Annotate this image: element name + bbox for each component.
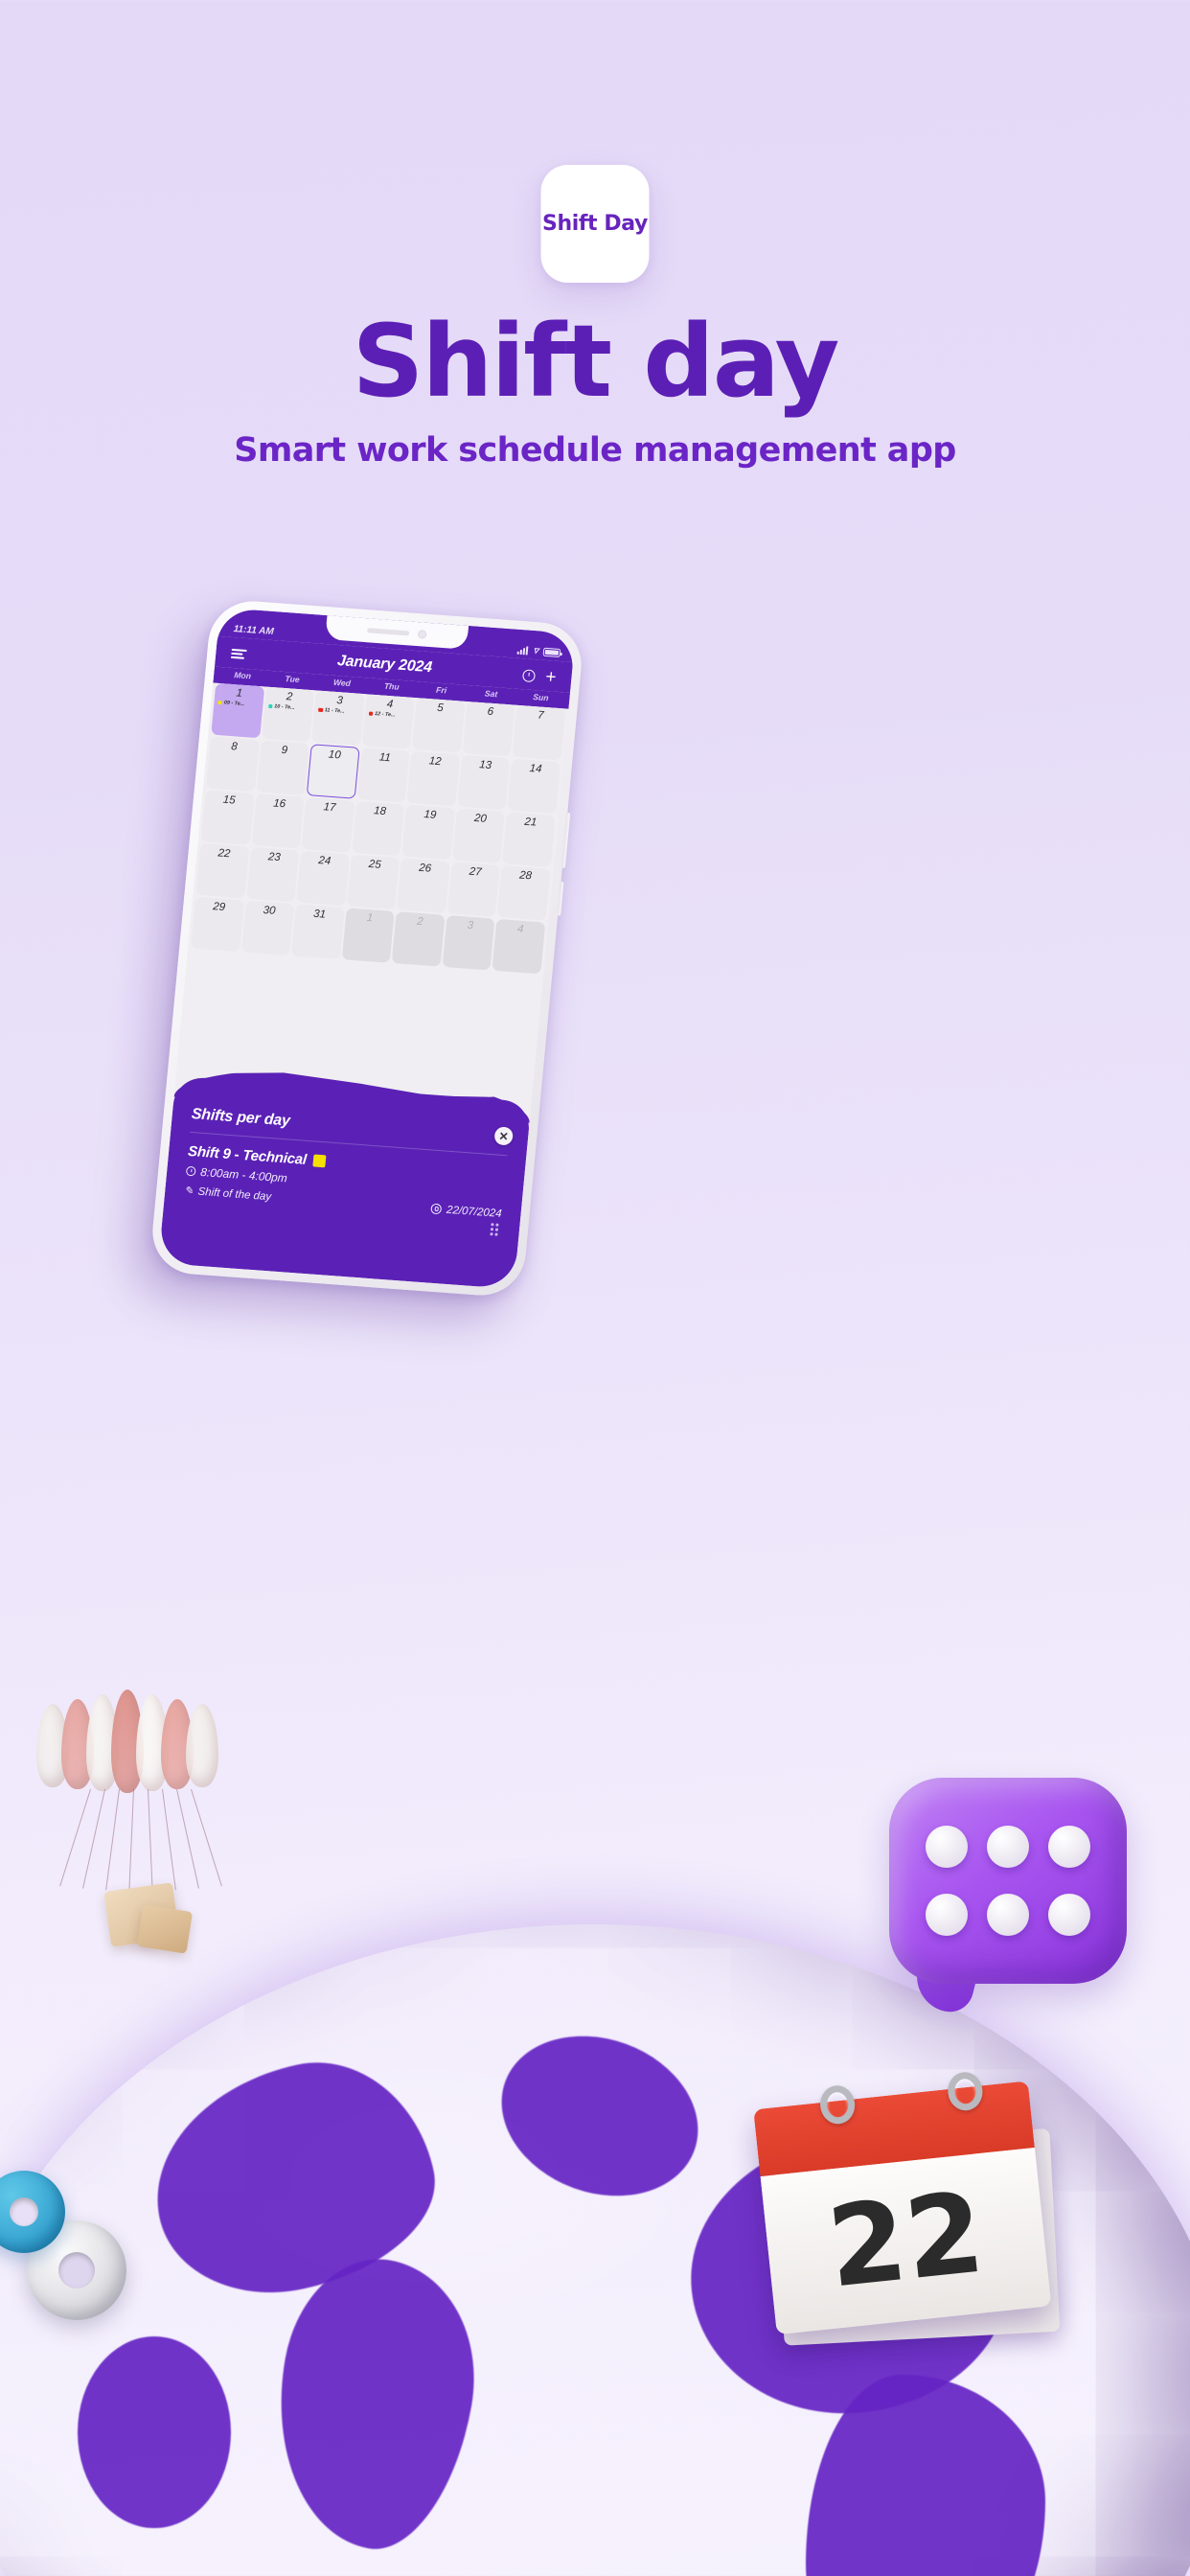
status-bar-icons: ▿ — [516, 645, 561, 658]
shift-color-swatch — [312, 1154, 326, 1167]
calendar-day-cell[interactable]: 210 - Te... — [262, 687, 315, 742]
calendar-grid: 109 - Te...210 - Te...311 - Te...412 - T… — [188, 683, 568, 975]
calendar-day-cell[interactable]: 8 — [206, 737, 260, 792]
calendar-day-number: 20 — [457, 812, 503, 827]
parachute-lines — [90, 1789, 195, 1893]
parachute-illustration — [36, 1690, 242, 1977]
app-icon: Shift Day — [541, 165, 650, 283]
calendar-day-number: 23 — [251, 850, 297, 865]
parachute-canopy — [36, 1690, 242, 1803]
weekday-label: Thu — [366, 679, 417, 693]
calendar-day-cell[interactable]: 5 — [412, 698, 466, 752]
calendar-day-cell[interactable]: 24 — [296, 851, 350, 906]
gift-box — [137, 1904, 193, 1954]
calendar-day-cell[interactable]: 25 — [347, 855, 400, 909]
drag-handle[interactable] — [491, 1223, 499, 1235]
calendar-day-cell[interactable]: 109 - Te... — [211, 683, 264, 738]
weekday-label: Wed — [317, 677, 368, 690]
shifts-bottom-sheet: ✕ Shifts per day Shift 9 - Technical 8:0… — [158, 1076, 532, 1289]
calendar-day-cell[interactable]: 15 — [201, 790, 255, 844]
calendar-day-number: 3 — [447, 918, 493, 933]
calendar-day-number: 9 — [262, 744, 308, 759]
phone-body: 11:11 AM ▿ January 2024 + MonTu — [149, 598, 584, 1298]
status-bar-time: 11:11 AM — [233, 624, 274, 637]
clock-icon[interactable] — [522, 669, 536, 682]
pencil-icon[interactable]: ✎ — [184, 1184, 194, 1198]
weekday-label: Fri — [416, 683, 467, 697]
shift-date: 22/07/2024 — [446, 1204, 503, 1219]
calendar-day-cell[interactable]: 13 — [457, 755, 511, 810]
calendar-day-cell[interactable]: 18 — [352, 801, 405, 856]
phone-mockup: 11:11 AM ▿ January 2024 + MonTu — [149, 598, 584, 1298]
shift-name: Shift 9 - Technical — [187, 1143, 307, 1168]
calendar-day-cell[interactable]: 31 — [291, 904, 345, 958]
calendar-day-number: 2 — [398, 914, 444, 930]
calendar-day-cell[interactable]: 21 — [502, 812, 556, 866]
calendar-day-number: 24 — [302, 854, 348, 869]
calendar-day-cell[interactable]: 22 — [195, 843, 249, 898]
calendar-day-cell[interactable]: 16 — [251, 793, 305, 848]
calendar-day-cell[interactable]: 4 — [492, 919, 546, 974]
calendar-day-cell[interactable]: 11 — [356, 747, 410, 802]
calendar-day-cell[interactable]: 19 — [401, 805, 455, 860]
calendar-day-cell[interactable]: 17 — [302, 797, 355, 852]
shift-note-row: ✎ Shift of the day — [184, 1184, 272, 1204]
weekday-label: Sat — [466, 687, 516, 701]
shift-date-row: 22/07/2024 — [431, 1203, 503, 1219]
weekday-label: Tue — [267, 673, 318, 686]
desk-calendar-body: 22 — [761, 2148, 1052, 2334]
calendar-day-cell[interactable]: 12 — [407, 751, 461, 806]
phone-speaker — [367, 628, 409, 635]
gears-icon — [0, 2171, 155, 2334]
calendar-day-cell[interactable]: 10 — [307, 744, 360, 798]
phone-screen: 11:11 AM ▿ January 2024 + MonTu — [158, 608, 576, 1289]
target-icon — [431, 1204, 443, 1215]
phone-camera — [418, 630, 427, 639]
globe-continent — [78, 2336, 231, 2528]
calendar-day-number: 4 — [497, 922, 543, 937]
event-color-swatch — [318, 707, 323, 712]
clock-icon — [186, 1166, 196, 1177]
chat-bubble-dots — [889, 1778, 1127, 1984]
close-icon[interactable]: ✕ — [493, 1126, 514, 1145]
shift-note: Shift of the day — [197, 1185, 272, 1203]
calendar-day-cell[interactable]: 1 — [341, 908, 395, 962]
calendar-day-number: 17 — [307, 800, 353, 816]
plus-icon[interactable]: + — [545, 670, 557, 683]
calendar-day-number: 18 — [357, 804, 403, 819]
calendar-day-cell[interactable]: 26 — [397, 858, 450, 912]
calendar-day-cell[interactable]: 311 - Te... — [311, 690, 365, 745]
event-label: 09 - Te... — [224, 700, 245, 707]
event-color-swatch — [369, 711, 374, 716]
calendar-day-cell[interactable]: 29 — [191, 897, 244, 952]
calendar-day-cell[interactable]: 6 — [462, 701, 515, 756]
weekday-label: Mon — [217, 669, 268, 682]
calendar-day-cell[interactable]: 27 — [447, 862, 501, 916]
calendar-day-cell[interactable]: 7 — [513, 705, 566, 760]
calendar-day-cell[interactable]: 14 — [508, 759, 561, 814]
calendar-day-number: 22 — [201, 846, 247, 862]
bottom-sheet-title: Shifts per day — [191, 1106, 510, 1146]
event-label: 11 - Te... — [324, 707, 344, 715]
calendar-day-number: 30 — [246, 904, 292, 919]
calendar-day-cell[interactable]: 2 — [392, 911, 446, 966]
shift-time: 8:00am - 4:00pm — [200, 1165, 288, 1185]
battery-full-icon — [542, 648, 561, 657]
calendar-day-number: 21 — [508, 816, 554, 831]
calendar-day-cell[interactable]: 412 - Te... — [362, 694, 416, 748]
calendar-day-number: 25 — [352, 858, 398, 873]
event-label: 10 - Te... — [274, 703, 295, 711]
desk-calendar-front-page: 22 — [753, 2081, 1051, 2334]
calendar-day-number: 8 — [212, 740, 258, 755]
desk-calendar-day: 22 — [823, 2177, 989, 2304]
calendar-day-number: 11 — [362, 750, 408, 766]
desk-calendar-illustration: 22 — [753, 2080, 1067, 2377]
calendar-day-number: 13 — [463, 758, 509, 773]
calendar-day-number: 29 — [196, 900, 242, 915]
event-color-swatch — [268, 704, 273, 709]
app-bar-actions: + — [522, 669, 557, 684]
chat-bubble-icon — [889, 1778, 1127, 1984]
calendar-day-cell[interactable]: 20 — [452, 809, 506, 863]
parachute-gore — [186, 1704, 218, 1787]
event-color-swatch — [217, 701, 222, 705]
calendar-day-cell[interactable]: 28 — [497, 865, 551, 920]
calendar-day-cell[interactable]: 3 — [442, 915, 495, 970]
calendar-day-number: 15 — [206, 793, 252, 808]
calendar-day-number: 14 — [513, 762, 559, 777]
hamburger-menu-icon[interactable] — [231, 649, 247, 659]
calendar-day-number: 5 — [418, 701, 464, 716]
cellular-bars-icon — [516, 646, 529, 655]
calendar-day-number: 26 — [402, 862, 448, 877]
event-label: 12 - Te... — [375, 711, 396, 719]
app-icon-label: Shift Day — [542, 212, 648, 236]
calendar-day-number: 10 — [312, 747, 356, 763]
hero-section: Shift Day Shift day Smart work schedule … — [0, 0, 1190, 862]
calendar-day-number: 1 — [347, 910, 393, 926]
calendar-day-number: 7 — [517, 708, 563, 724]
page-title: Shift day — [0, 311, 1190, 411]
calendar-day-cell[interactable]: 23 — [246, 847, 300, 902]
phone-side-button — [557, 882, 563, 916]
calendar-day-number: 28 — [503, 868, 549, 884]
calendar-day-number: 19 — [407, 808, 453, 823]
page-subtitle: Smart work schedule management app — [0, 429, 1190, 471]
calendar-day-number: 31 — [297, 908, 343, 923]
weekday-label: Sun — [515, 691, 566, 704]
calendar-day-number: 16 — [257, 796, 303, 812]
calendar-day-number: 12 — [412, 754, 458, 770]
calendar-day-cell[interactable]: 30 — [241, 901, 295, 955]
wifi-icon: ▿ — [533, 646, 539, 656]
calendar-day-number: 6 — [468, 704, 514, 720]
calendar-day-number: 27 — [452, 864, 498, 880]
month-title: January 2024 — [336, 653, 432, 677]
calendar-day-cell[interactable]: 9 — [256, 740, 309, 794]
